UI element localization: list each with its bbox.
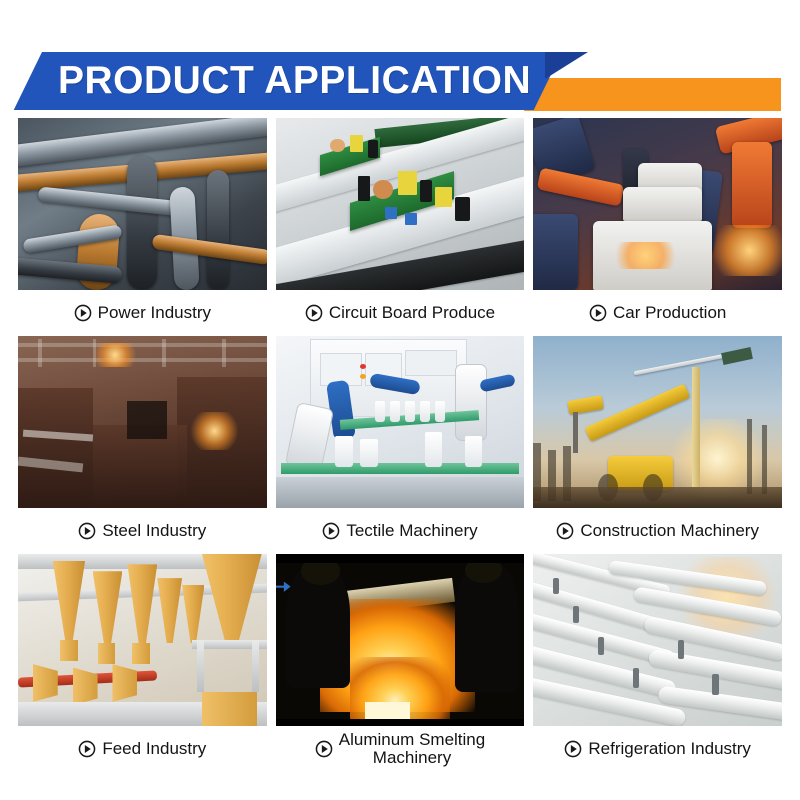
caption-label: Circuit Board Produce <box>329 304 495 322</box>
thumbnail-tectile-machinery <box>276 336 525 508</box>
grid-item[interactable]: Steel Industry <box>18 336 267 554</box>
thumbnail-steel-industry <box>18 336 267 508</box>
caption-label: Power Industry <box>98 304 211 322</box>
play-circle-icon <box>315 740 333 758</box>
caption-label: Aluminum Smelting Machinery <box>339 731 485 768</box>
grid-item[interactable]: Refrigeration Industry <box>533 554 782 772</box>
caption: Feed Industry <box>74 726 210 772</box>
grid-item[interactable]: Aluminum Smelting Machinery <box>276 554 525 772</box>
caption: Power Industry <box>70 290 215 336</box>
caption-label: Steel Industry <box>102 522 206 540</box>
page-title: PRODUCT APPLICATION <box>58 54 531 108</box>
thumbnail-refrigeration-industry <box>533 554 782 726</box>
caption-label: Refrigeration Industry <box>588 740 751 758</box>
play-circle-icon <box>589 304 607 322</box>
play-circle-icon <box>556 522 574 540</box>
thumbnail-circuit-board-produce <box>276 118 525 290</box>
play-circle-icon <box>564 740 582 758</box>
thumbnail-construction-machinery <box>533 336 782 508</box>
caption: Steel Industry <box>74 508 210 554</box>
play-circle-icon <box>78 740 96 758</box>
caption-label: Tectile Machinery <box>346 522 477 540</box>
grid-item[interactable]: Tectile Machinery <box>276 336 525 554</box>
grid-item[interactable]: Power Industry <box>18 118 267 336</box>
caption-label: Car Production <box>613 304 726 322</box>
play-circle-icon <box>78 522 96 540</box>
grid-item[interactable]: Construction Machinery <box>533 336 782 554</box>
caption: Car Production <box>585 290 730 336</box>
caption: Circuit Board Produce <box>301 290 499 336</box>
play-circle-icon <box>305 304 323 322</box>
thumbnail-aluminum-smelting-machinery <box>276 554 525 726</box>
banner-orange-fill <box>595 78 781 111</box>
page-header-banner: PRODUCT APPLICATION <box>0 0 800 118</box>
play-circle-icon <box>74 304 92 322</box>
grid-item[interactable]: Feed Industry <box>18 554 267 772</box>
grid-item[interactable]: Car Production <box>533 118 782 336</box>
caption: Tectile Machinery <box>318 508 481 554</box>
grid-item[interactable]: Circuit Board Produce <box>276 118 525 336</box>
thumbnail-car-production <box>533 118 782 290</box>
caption: Aluminum Smelting Machinery <box>311 726 489 772</box>
thumbnail-feed-industry <box>18 554 267 726</box>
caption-label: Feed Industry <box>102 740 206 758</box>
thumbnail-power-industry <box>18 118 267 290</box>
application-grid: Power Industry <box>18 118 782 772</box>
play-circle-icon <box>322 522 340 540</box>
banner-notch-triangle <box>545 52 588 79</box>
caption: Refrigeration Industry <box>560 726 755 772</box>
caption-label: Construction Machinery <box>580 522 759 540</box>
caption: Construction Machinery <box>552 508 763 554</box>
